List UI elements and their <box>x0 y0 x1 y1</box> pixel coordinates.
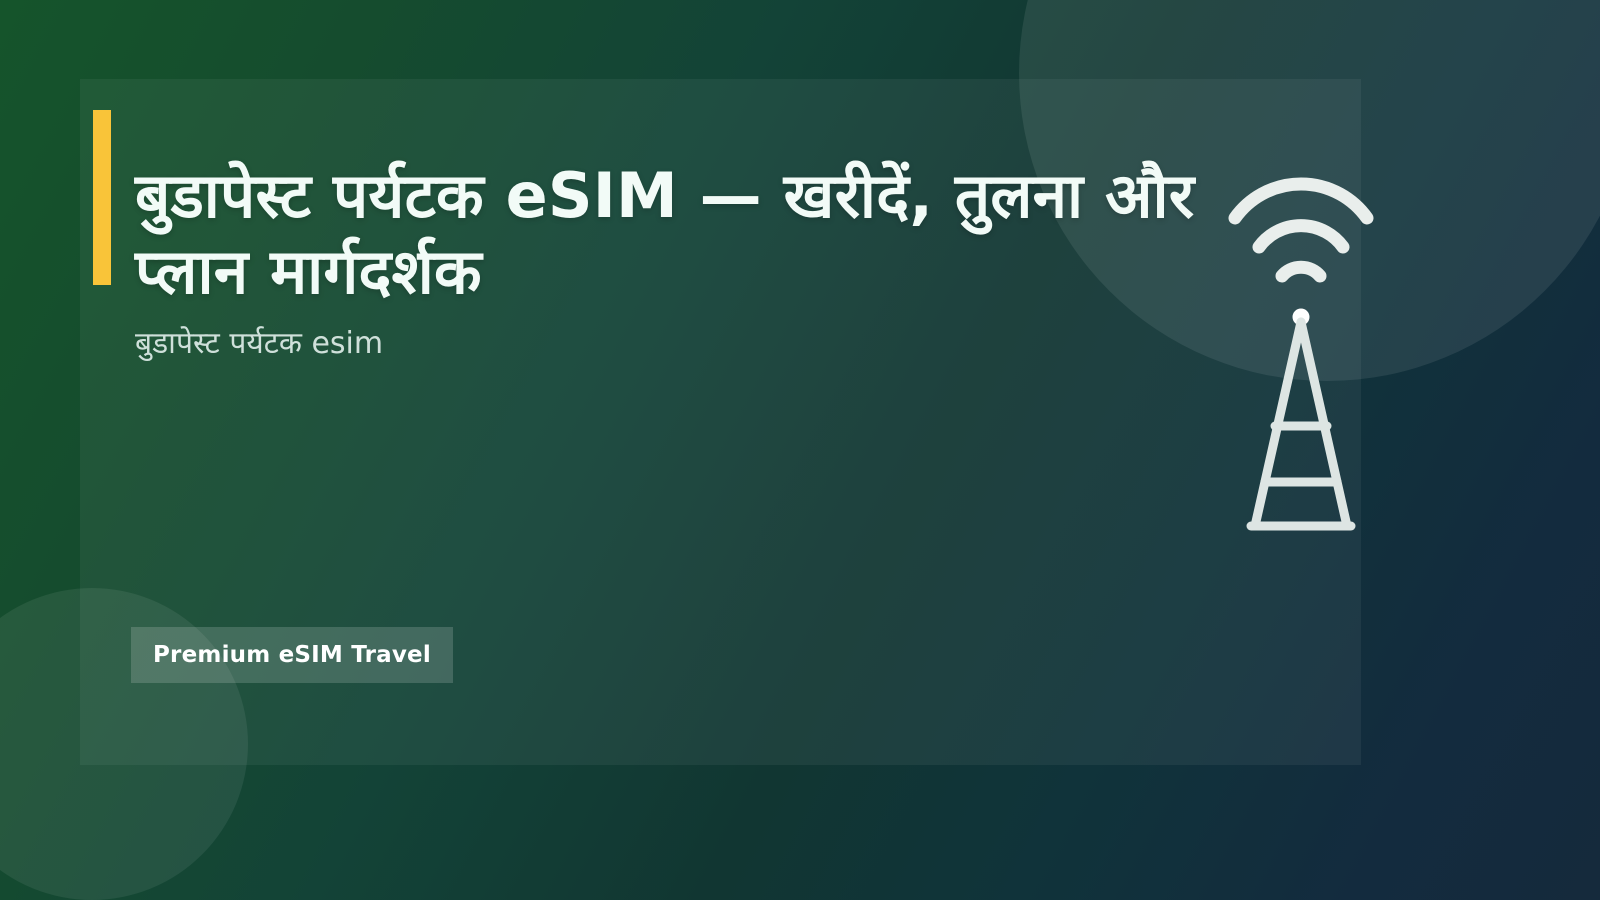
wifi-signal-dot-icon <box>1293 309 1310 326</box>
page-title: बुडापेस्ट पर्यटक eSIM — खरीदें, तुलना और… <box>135 158 1195 309</box>
accent-bar <box>93 110 111 285</box>
headline-block: बुडापेस्ट पर्यटक eSIM — खरीदें, तुलना और… <box>135 158 1195 363</box>
slide-canvas: बुडापेस्ट पर्यटक eSIM — खरीदें, तुलना और… <box>0 0 1600 900</box>
wifi-signal-icon <box>1235 184 1367 276</box>
status-badge-label: Premium eSIM Travel <box>153 642 431 668</box>
telecom-icon-group <box>1215 130 1415 550</box>
status-badge: Premium eSIM Travel <box>131 627 453 683</box>
page-subtitle: बुडापेस्ट पर्यटक esim <box>135 325 1195 363</box>
cell-tower-icon <box>1251 322 1351 526</box>
